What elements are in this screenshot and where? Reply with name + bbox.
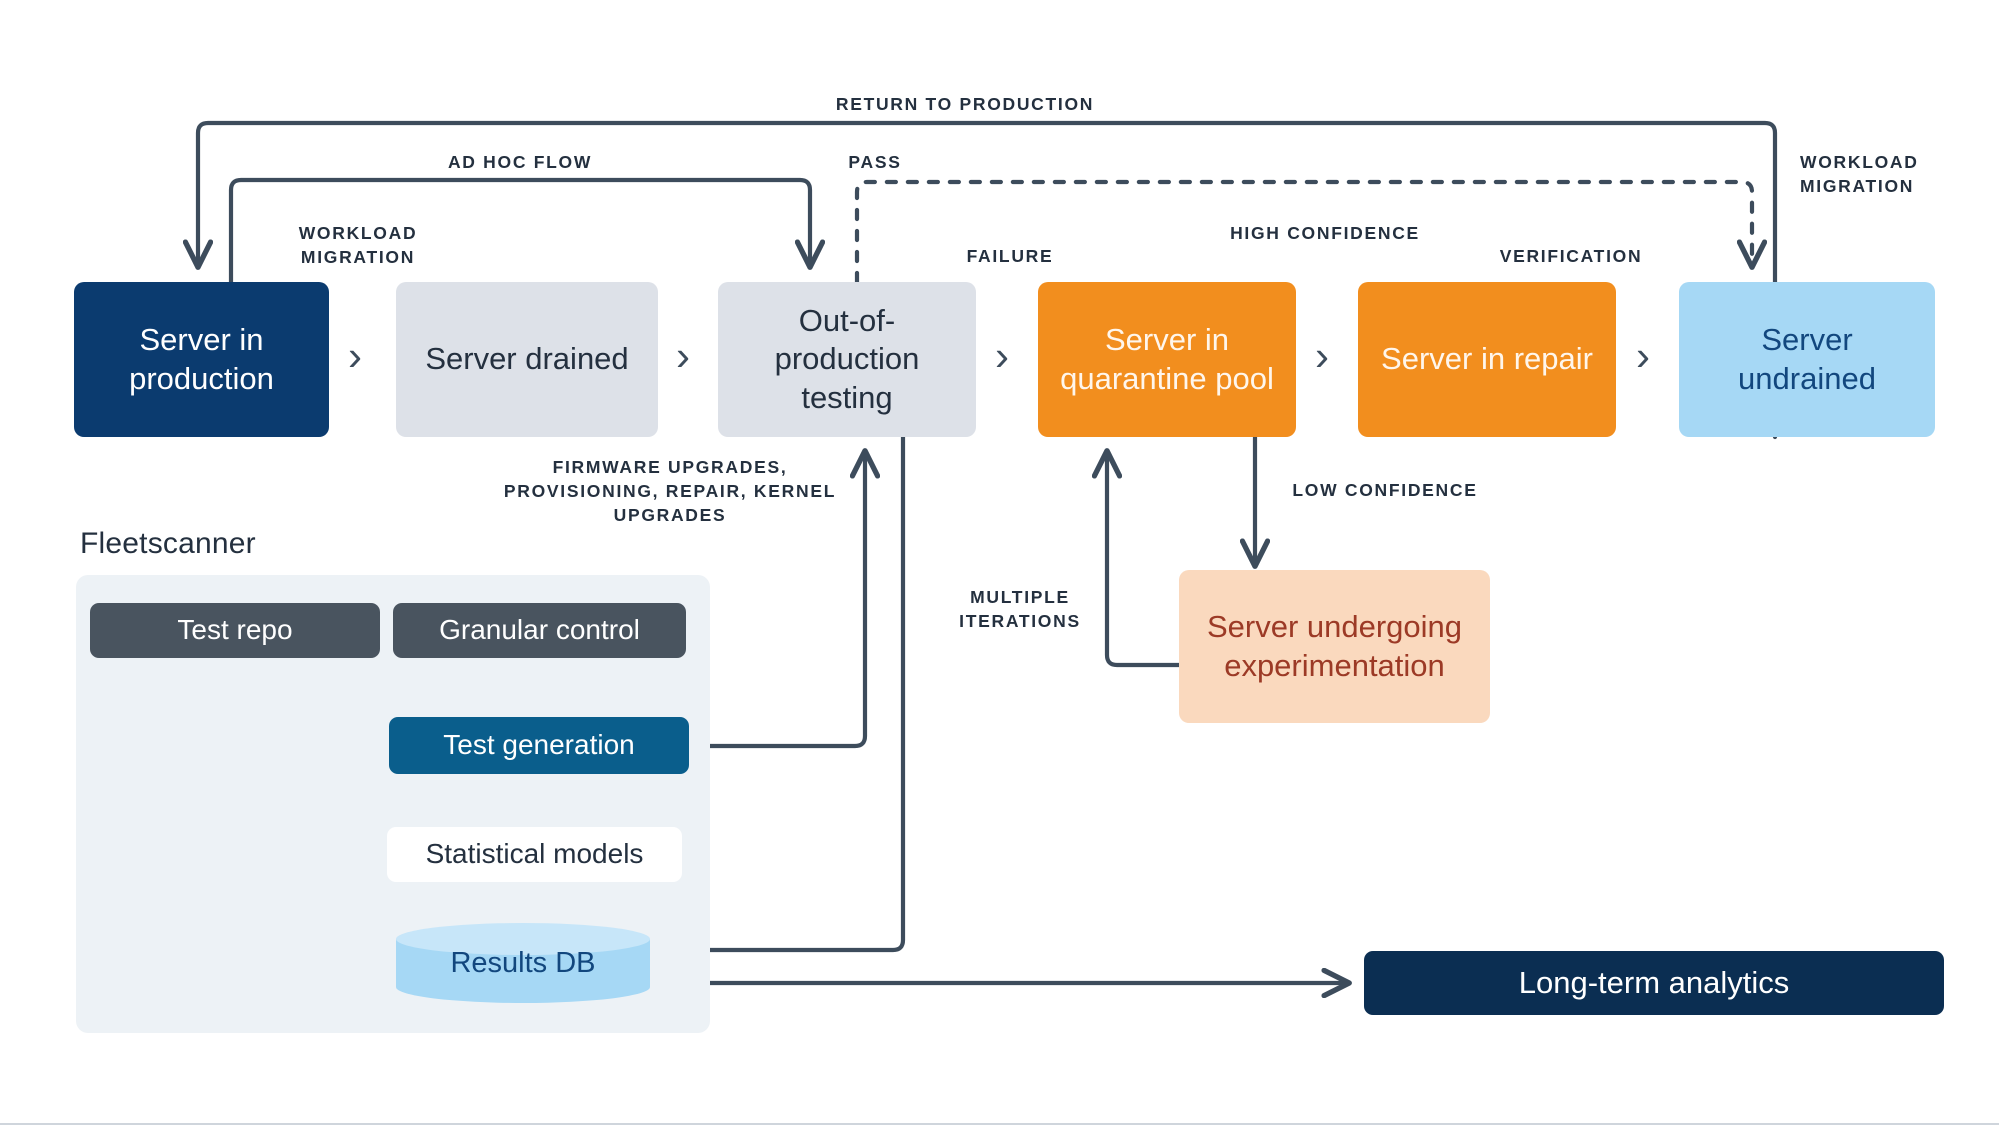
- edge-label-return-to-production: RETURN TO PRODUCTION: [760, 92, 1170, 116]
- node-label: Statistical models: [416, 837, 654, 872]
- node-label: Out-of-production testing: [718, 302, 976, 417]
- node-label: Server drained: [415, 340, 638, 378]
- node-server-in-production[interactable]: Server in production: [74, 282, 329, 437]
- pipeline-chevron-2: ›: [676, 335, 690, 377]
- node-server-in-quarantine-pool[interactable]: Server in quarantine pool: [1038, 282, 1296, 437]
- node-label: Long-term analytics: [1509, 964, 1800, 1002]
- edge-label-firmware-upgrades: FIRMWARE UPGRADES, PROVISIONING, REPAIR,…: [500, 455, 840, 527]
- node-granular-control[interactable]: Granular control: [393, 603, 686, 658]
- node-label: Server in repair: [1371, 340, 1603, 378]
- node-server-drained[interactable]: Server drained: [396, 282, 658, 437]
- pipeline-chevron-1: ›: [348, 335, 362, 377]
- pipeline-chevron-5: ›: [1636, 335, 1650, 377]
- node-label: Granular control: [429, 613, 650, 648]
- node-server-undrained[interactable]: Server undrained: [1679, 282, 1935, 437]
- edge-label-low-confidence: LOW CONFIDENCE: [1270, 478, 1500, 502]
- node-label: Test generation: [433, 728, 644, 763]
- node-test-repo[interactable]: Test repo: [90, 603, 380, 658]
- node-long-term-analytics[interactable]: Long-term analytics: [1364, 951, 1944, 1015]
- edge-label-high-confidence: HIGH CONFIDENCE: [1210, 221, 1440, 245]
- fleetscanner-title: Fleetscanner: [80, 527, 256, 561]
- pipeline-chevron-4: ›: [1315, 335, 1329, 377]
- edge-label-workload-migration-left: WORKLOAD MIGRATION: [248, 221, 468, 269]
- node-server-in-repair[interactable]: Server in repair: [1358, 282, 1616, 437]
- node-statistical-models[interactable]: Statistical models: [387, 827, 682, 882]
- node-server-undergoing-experimentation[interactable]: Server undergoing experimentation: [1179, 570, 1490, 723]
- node-label: Test repo: [167, 613, 302, 648]
- edge-label-pass: PASS: [810, 150, 940, 174]
- node-label: Server in production: [74, 321, 329, 398]
- edge-label-ad-hoc-flow: AD HOC FLOW: [370, 150, 670, 174]
- node-label: Server undergoing experimentation: [1179, 608, 1490, 685]
- node-test-generation[interactable]: Test generation: [389, 717, 689, 774]
- node-results-db[interactable]: Results DB: [396, 923, 650, 1003]
- edge-label-verification: VERIFICATION: [1446, 244, 1696, 268]
- node-out-of-production-testing[interactable]: Out-of-production testing: [718, 282, 976, 437]
- pipeline-chevron-3: ›: [995, 335, 1009, 377]
- edge-label-multiple-iterations: MULTIPLE ITERATIONS: [920, 585, 1120, 633]
- node-label: Server undrained: [1679, 321, 1935, 398]
- edge-label-workload-migration-right: WORKLOAD MIGRATION: [1800, 150, 1990, 198]
- node-label: Server in quarantine pool: [1038, 321, 1296, 398]
- node-label: Results DB: [396, 923, 650, 1003]
- diagram-canvas: Server in production › Server drained › …: [0, 0, 1999, 1125]
- edge-label-failure: FAILURE: [910, 244, 1110, 268]
